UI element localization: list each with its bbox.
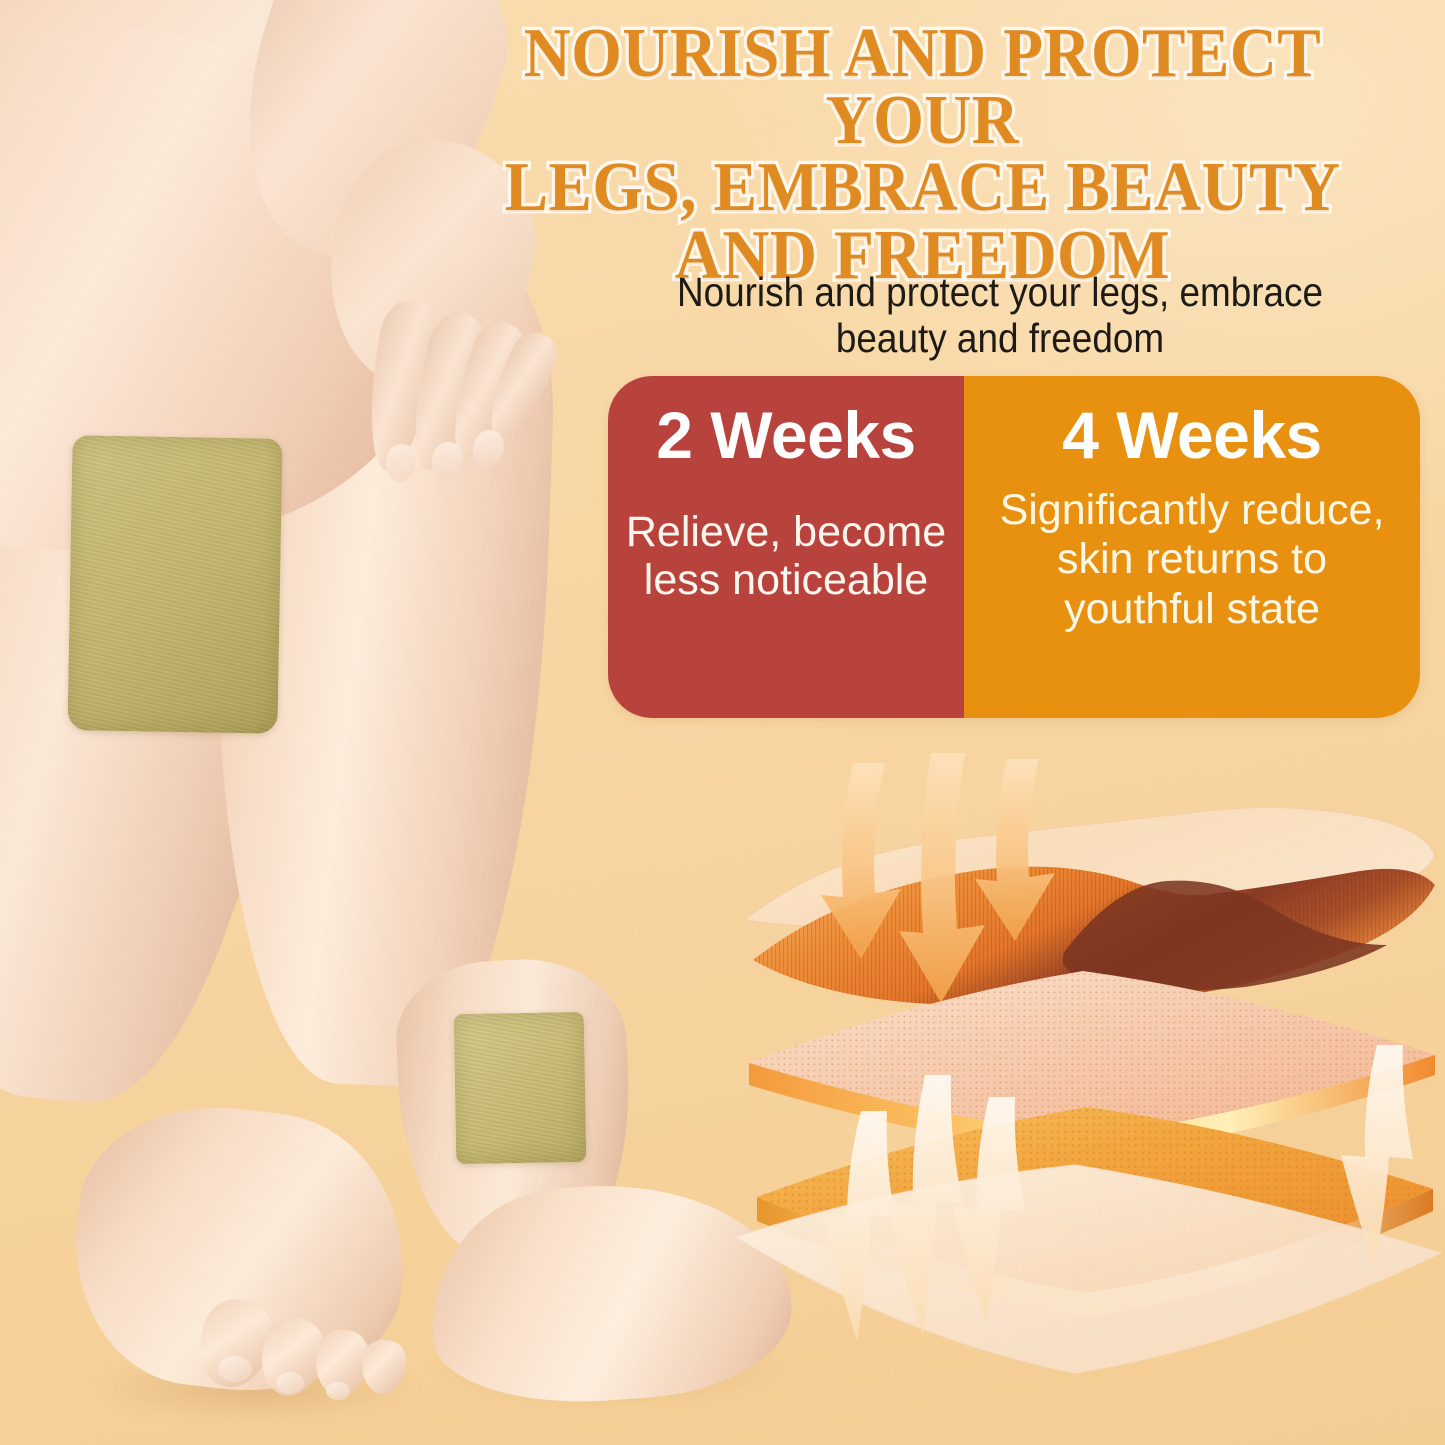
ankle-patch [454,1012,587,1164]
toenail [218,1356,252,1382]
comparison-panel-2-weeks: 2 Weeks Relieve, become less noticeable [608,376,964,718]
poster-canvas: NOURISH AND PROTECT YOUR LEGS, EMBRACE B… [0,0,1445,1445]
page-title: NOURISH AND PROTECT YOUR LEGS, EMBRACE B… [446,20,1399,289]
subtitle: Nourish and protect your legs, embrace b… [604,270,1396,362]
knee-patch [67,435,282,734]
comparison-panel-4-weeks: 4 Weeks Significantly reduce, skin retur… [964,376,1420,718]
panel-title-4-weeks: 4 Weeks [978,402,1406,468]
timeline-comparison-box: 2 Weeks Relieve, become less noticeable … [608,376,1420,718]
panel-description-4-weeks: Significantly reduce, skin returns to yo… [978,486,1406,634]
panel-title-2-weeks: 2 Weeks [622,402,950,468]
panel-description-2-weeks: Relieve, become less noticeable [622,508,950,604]
toenail [276,1372,304,1394]
patch-layer-diagram [735,745,1445,1385]
toenail [326,1382,350,1400]
